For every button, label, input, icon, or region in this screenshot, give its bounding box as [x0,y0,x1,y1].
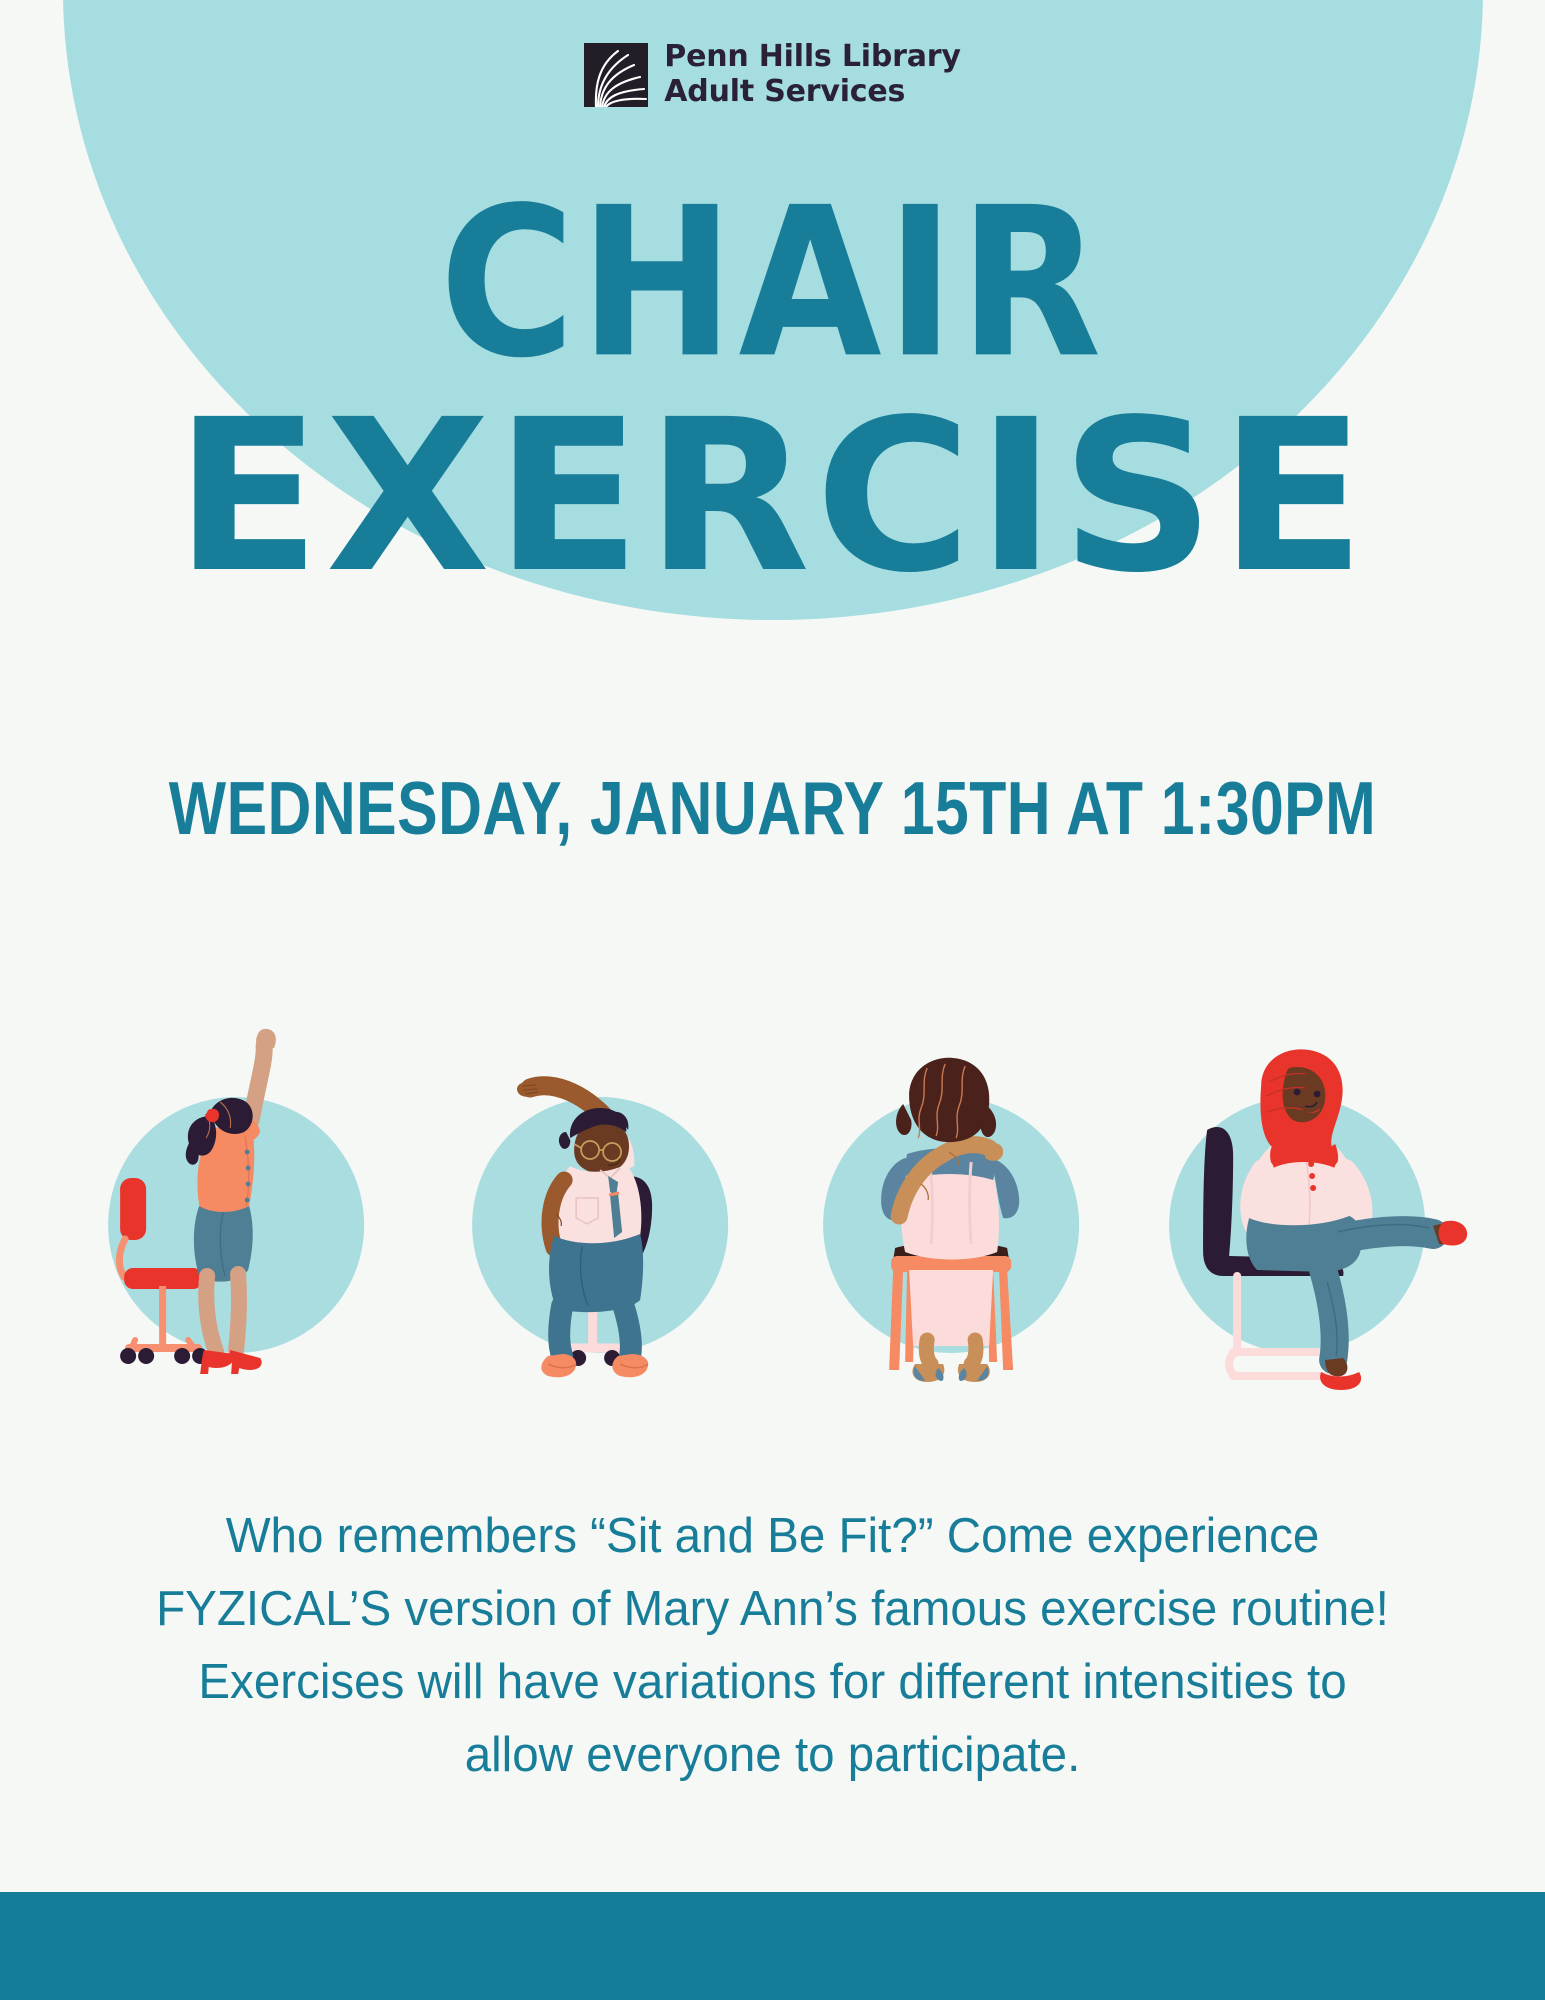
organization-header: Penn Hills Library Adult Services [0,40,1545,110]
poster-root: Penn Hills Library Adult Services CHAIR … [0,0,1545,2000]
organization-line-1: Penn Hills Library [664,40,960,75]
illustration-row [60,1020,1485,1420]
event-description: Who remembers “Sit and Be Fit?” Come exp… [149,1500,1395,1792]
page-title: CHAIR EXERCISE [0,185,1545,570]
event-date-time: WEDNESDAY, JANUARY 15TH AT 1:30PM [62,765,1483,852]
organization-name: Penn Hills Library Adult Services [664,40,960,110]
illustration-seated-behind-the-head-triceps-stretch [773,1020,1129,1420]
footer-bar [0,1892,1545,2000]
illustration-standing-overhead-reach-with-office-chair [60,1020,416,1420]
illustration-seated-side-bend-stretch [416,1020,772,1420]
illustration-seated-leg-extension [1129,1020,1485,1420]
organization-line-2: Adult Services [664,75,960,110]
library-fan-logo-icon [584,43,648,107]
title-line-2: EXERCISE [0,392,1545,602]
title-line-1: CHAIR [0,185,1545,383]
